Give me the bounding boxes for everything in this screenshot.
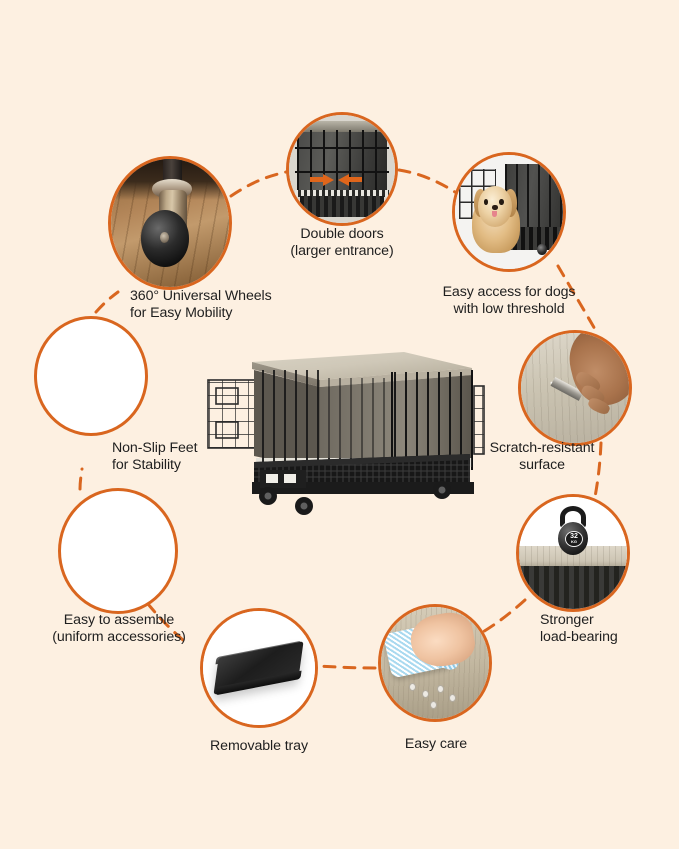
connector-feet-wheels [96,292,118,312]
caption-easy-assemble: Easy to assemble (uniform accessories) [26,612,212,646]
product-image [196,330,486,520]
dog-beside-crate-photo [455,155,563,269]
door-arrow-left-icon [338,174,349,186]
caption-double-doors: Double doors (larger entrance) [262,226,422,260]
door-arrow-right-icon [323,174,334,186]
caption-load-bearing: Stronger load-bearing [540,612,670,646]
caption-non-slip-feet: Non-Slip Feet for Stability [112,440,252,474]
scratch-test-photo [521,333,629,443]
connector-care-tray [318,666,375,668]
door-arrow-left-stem [348,177,362,182]
double-doors-photo [289,115,395,223]
connector-doors-access [399,170,455,192]
feature-bubble-easy-assemble[interactable] [58,488,178,614]
connector-wheels-doors [231,172,286,196]
caption-removable-tray: Removable tray [196,738,322,755]
feature-bubble-easy-access[interactable] [452,152,566,272]
infographic-canvas: 360° Universal Wheels for Easy Mobility … [0,0,679,849]
feature-bubble-load-bearing[interactable]: 32 KG [516,494,630,612]
feature-bubble-double-doors[interactable] [286,112,398,226]
caption-easy-care: Easy care [375,736,497,753]
caption-scratch-resistant: Scratch-resistant surface [462,440,622,474]
feature-bubble-non-slip-feet[interactable] [34,316,148,436]
feature-bubble-universal-wheels[interactable] [108,156,232,290]
easy-care-photo [381,607,489,719]
kettlebell-photo: 32 KG [519,497,627,609]
feature-bubble-removable-tray[interactable] [200,608,318,728]
kettlebell-weight-badge: 32 KG [565,531,583,548]
feature-bubble-scratch-resistant[interactable] [518,330,632,446]
connector-assemble-feet [80,469,82,489]
feature-bubble-easy-care[interactable] [378,604,492,722]
caption-easy-access: Easy access for dogs with low threshold [414,284,604,318]
kettlebell-weight-unit: KG [571,540,577,544]
caster-wheel-photo [111,159,229,287]
caption-universal-wheels: 360° Universal Wheels for Easy Mobility [130,288,310,322]
removable-tray-photo [203,611,315,725]
